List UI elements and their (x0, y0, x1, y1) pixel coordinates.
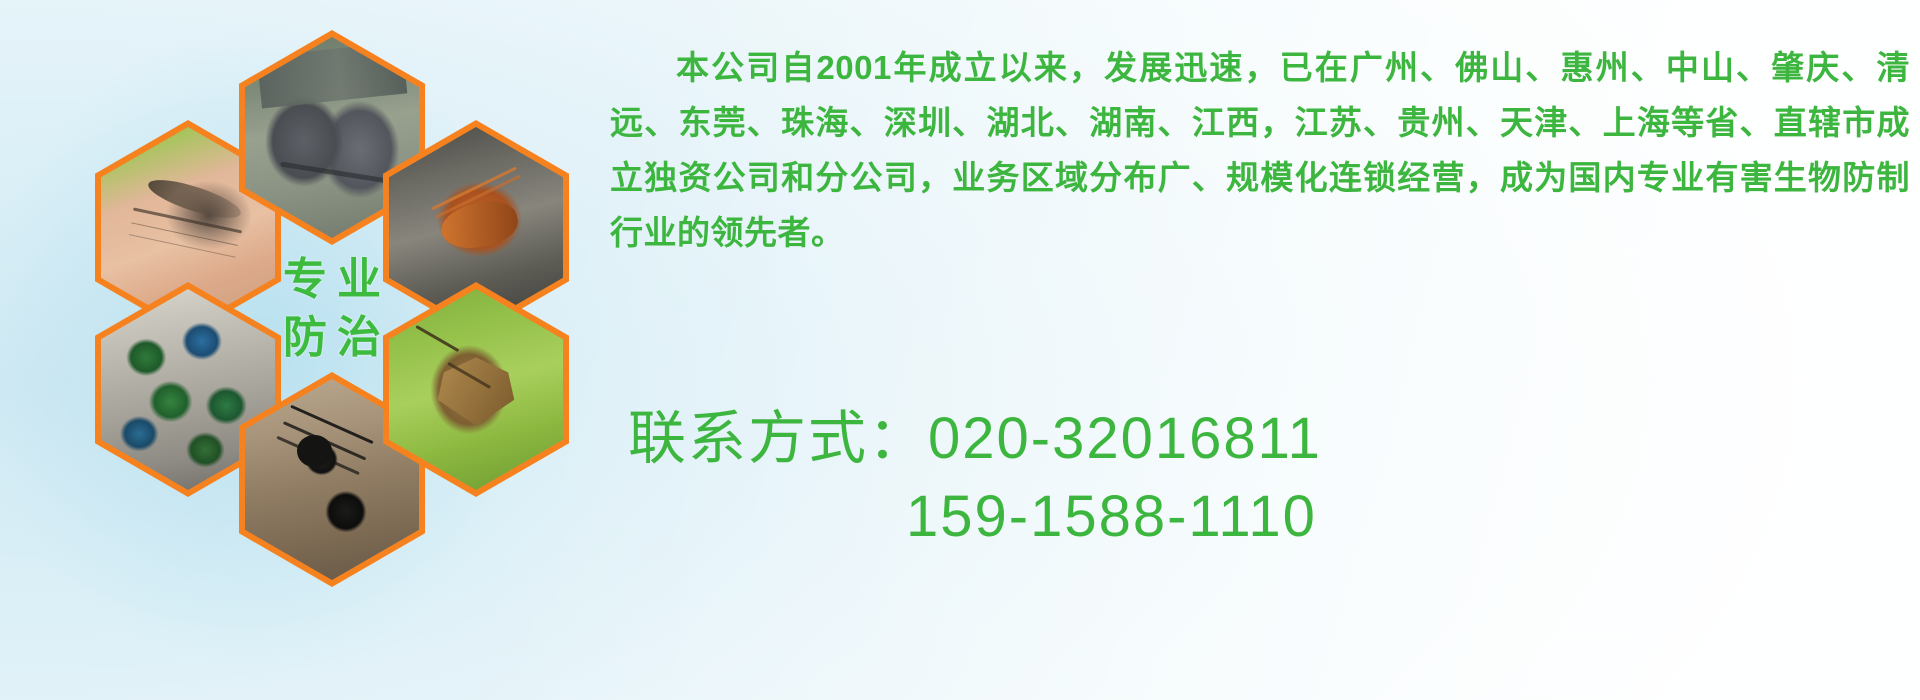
center-label-line1: 专业 (273, 256, 391, 304)
contact-line-primary[interactable]: 联系方式：020-32016811 (610, 400, 1910, 478)
company-intro-paragraph: 本公司自2001年成立以来，发展迅速，已在广州、佛山、惠州、中山、肇庆、清远、东… (610, 40, 1910, 260)
banner-content: 本公司自2001年成立以来，发展迅速，已在广州、佛山、惠州、中山、肇庆、清远、东… (610, 0, 1920, 700)
contact-line-secondary[interactable]: 159-1588-1110 (610, 478, 1910, 556)
contact-block: 联系方式：020-32016811 159-1588-1110 (610, 400, 1910, 556)
honeycomb-gallery: 专业 防治 (95, 10, 595, 570)
honeycomb-center-label: 专业 防治 (239, 201, 425, 416)
promo-banner: 专业 防治 本公司自2001年成立以来，发展迅速，已在广州、佛山、惠州、中山、肇… (0, 0, 1920, 700)
center-label-line2: 防治 (273, 314, 391, 362)
